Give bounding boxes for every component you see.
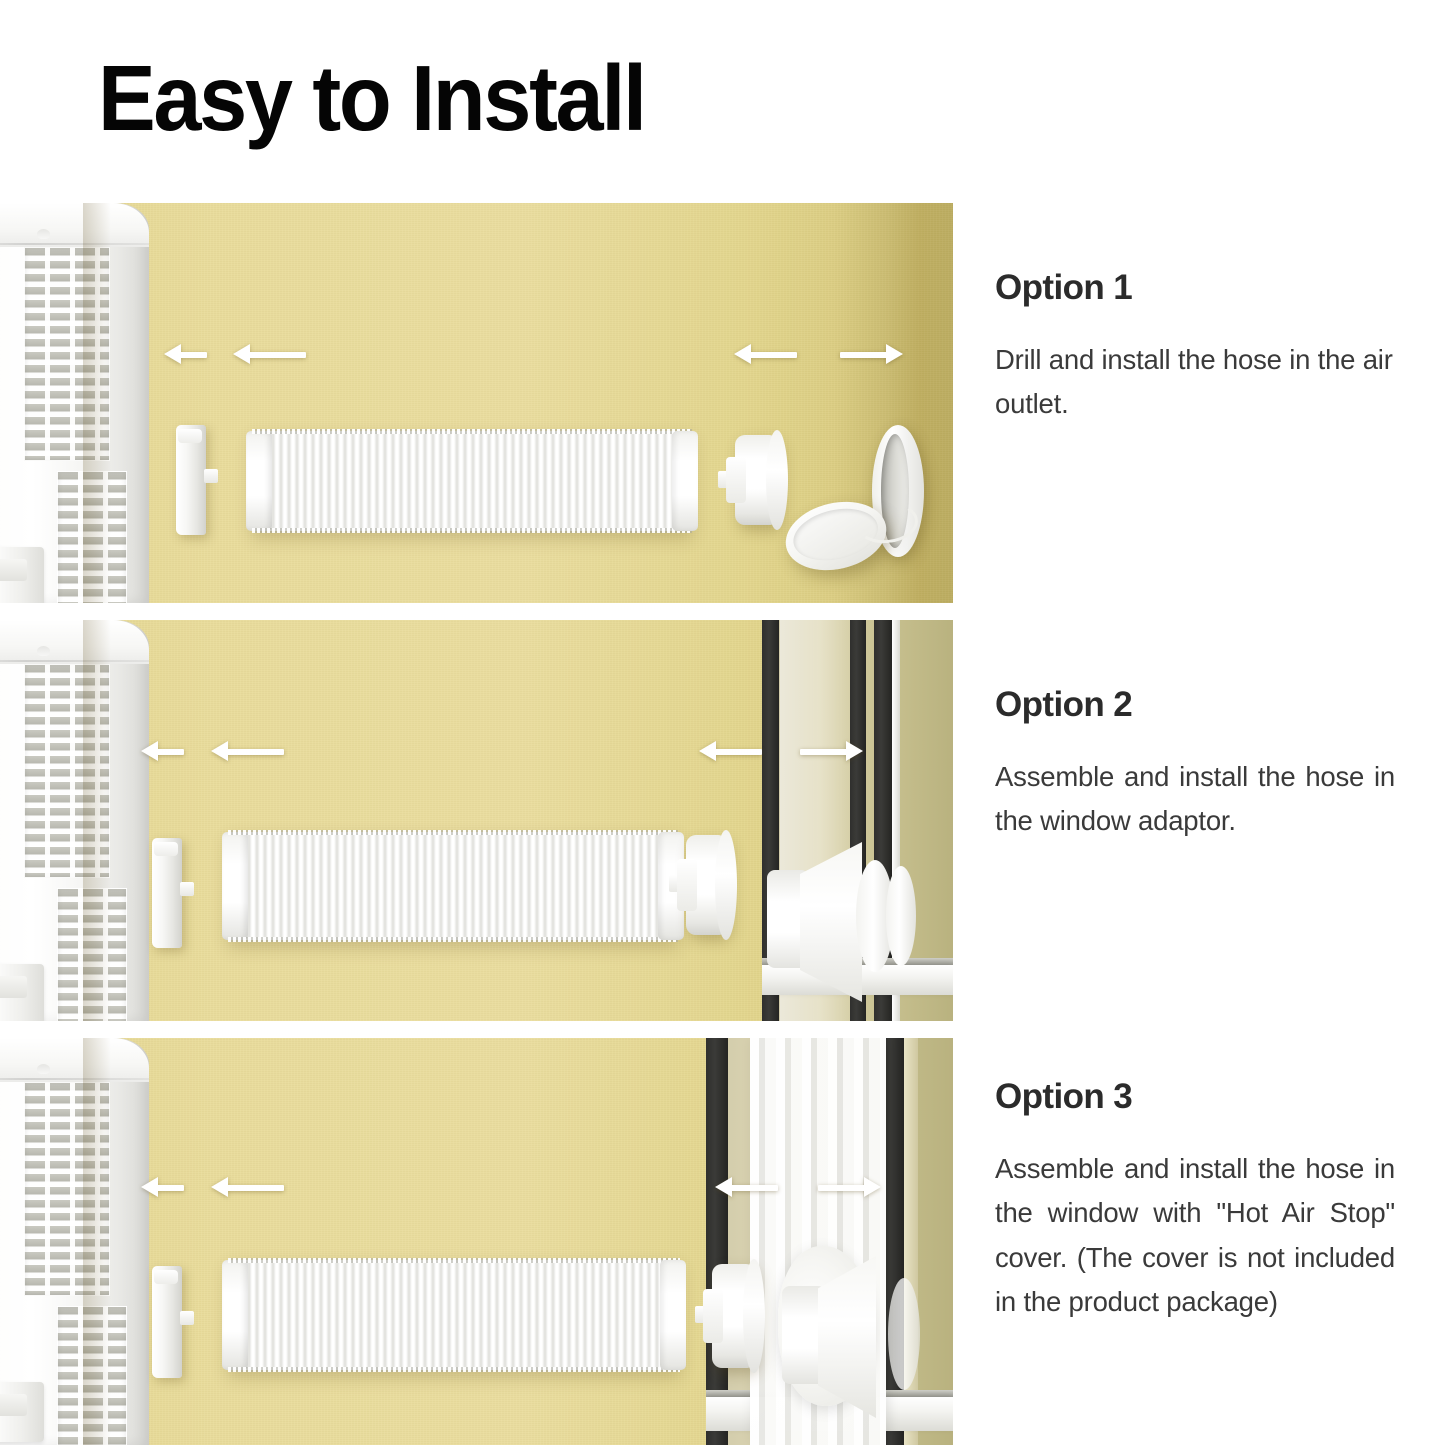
- ac-top-cap: [0, 1038, 149, 1082]
- connector-tab: [180, 1311, 194, 1325]
- arrow-left-1: [165, 349, 207, 360]
- arrow-shaft: [726, 1185, 778, 1191]
- arrow-right-1: [818, 1182, 880, 1193]
- hose-edge-bottom: [228, 937, 678, 942]
- ac-drop-shadow: [83, 1038, 111, 1445]
- option-2-scene: [0, 620, 953, 1021]
- ac-hose-port: [0, 1382, 44, 1442]
- arrow-shaft: [152, 749, 184, 755]
- arrow-right-1: [800, 746, 862, 757]
- arrow-right-1: [840, 349, 902, 360]
- arrow-left-2: [234, 349, 306, 360]
- ac-hose-port: [0, 547, 44, 603]
- option-1-heading: Option 1: [995, 269, 1395, 308]
- option-3-text: Option 3 Assemble and install the hose i…: [995, 1078, 1395, 1325]
- arrow-shaft: [175, 352, 207, 358]
- arrow-left-3: [735, 349, 797, 360]
- arrow-shaft: [745, 352, 797, 358]
- option-2-row: Option 2 Assemble and install the hose i…: [0, 620, 1445, 1021]
- portable-air-conditioner: [0, 203, 149, 603]
- option-3-heading: Option 3: [995, 1078, 1395, 1117]
- page-title: Easy to Install: [98, 52, 645, 145]
- connector-tab: [180, 882, 194, 896]
- portable-air-conditioner: [0, 1038, 149, 1445]
- hose-connector: [152, 838, 182, 948]
- option-1-text: Option 1 Drill and install the hose in t…: [995, 269, 1395, 427]
- ac-hose-port: [0, 964, 44, 1021]
- adaptor-hub: [726, 457, 746, 504]
- hose-edge-bottom: [252, 528, 692, 533]
- hose-edge-top: [228, 1258, 680, 1263]
- arrow-left-3: [716, 1182, 778, 1193]
- arrow-shaft: [222, 1185, 284, 1191]
- ac-drop-shadow: [83, 203, 111, 603]
- connector-tab: [204, 469, 218, 483]
- connector-lip: [154, 842, 178, 856]
- window-frame-left: [706, 1038, 728, 1445]
- adaptor-ring: [715, 830, 737, 940]
- round-adaptor: [686, 835, 728, 935]
- arrow-shaft: [244, 352, 306, 358]
- option-3-row: Option 3 Assemble and install the hose i…: [0, 1038, 1445, 1445]
- option-2-body: Assemble and install the hose in the win…: [995, 755, 1395, 844]
- ac-drop-shadow: [83, 620, 111, 1021]
- round-adaptor: [712, 1264, 756, 1368]
- adaptor-hub: [703, 1289, 723, 1343]
- arrow-shaft: [800, 749, 852, 755]
- hose-edge-top: [252, 429, 692, 434]
- round-adaptor: [735, 435, 779, 525]
- option-2-heading: Option 2: [995, 686, 1395, 725]
- hose-connector: [152, 1266, 182, 1378]
- arrow-shaft: [710, 749, 762, 755]
- arrow-left-1: [142, 1182, 184, 1193]
- adaptor-ring: [743, 1259, 765, 1373]
- window-adaptor-outer-disc: [888, 1278, 920, 1390]
- exhaust-hose: [228, 832, 678, 940]
- arrow-shaft: [152, 1185, 184, 1191]
- exhaust-hose: [228, 1260, 680, 1370]
- arrow-shaft: [818, 1185, 870, 1191]
- window-adaptor-outer-disc: [886, 866, 916, 966]
- arrow-left-2: [212, 746, 284, 757]
- arrow-left-3: [700, 746, 762, 757]
- arrow-shaft: [840, 352, 892, 358]
- option-1-row: Option 1 Drill and install the hose in t…: [0, 203, 1445, 603]
- arrow-shaft: [222, 749, 284, 755]
- portable-air-conditioner: [0, 620, 149, 1021]
- option-2-text: Option 2 Assemble and install the hose i…: [995, 686, 1395, 844]
- ac-top-cap: [0, 620, 149, 664]
- ac-seam: [0, 1078, 149, 1080]
- arrow-left-1: [142, 746, 184, 757]
- connector-lip: [154, 1270, 178, 1284]
- ac-seam: [0, 243, 149, 245]
- option-1-body: Drill and install the hose in the air ou…: [995, 338, 1395, 427]
- connector-lip: [178, 429, 202, 443]
- ac-seam: [0, 660, 149, 662]
- hose-connector: [176, 425, 206, 535]
- arrow-left-2: [212, 1182, 284, 1193]
- hose-edge-top: [228, 830, 678, 835]
- exhaust-hose: [252, 431, 692, 531]
- option-3-body: Assemble and install the hose in the win…: [995, 1147, 1395, 1325]
- ac-top-cap: [0, 203, 149, 247]
- adaptor-hub: [677, 859, 697, 911]
- option-1-scene: [0, 203, 953, 603]
- option-3-scene: [0, 1038, 953, 1445]
- adaptor-ring: [766, 430, 788, 530]
- hose-edge-bottom: [228, 1367, 680, 1372]
